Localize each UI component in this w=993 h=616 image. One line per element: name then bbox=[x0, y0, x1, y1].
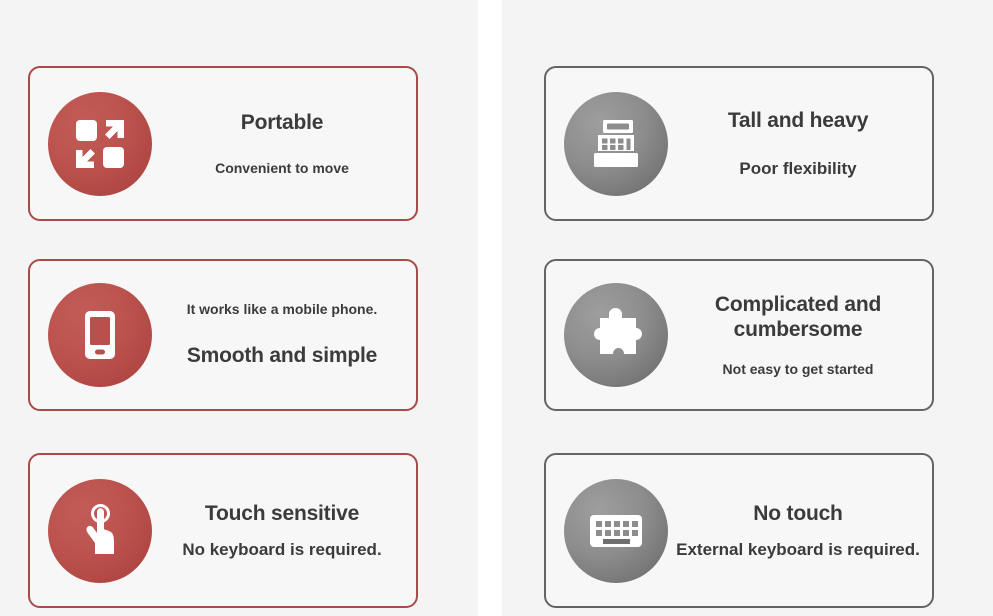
card-heading: Touch sensitive bbox=[205, 501, 359, 527]
card-no-touch[interactable]: No touch External keyboard is required. bbox=[544, 453, 934, 608]
card-touch-sensitive[interactable]: Touch sensitive No keyboard is required. bbox=[28, 453, 418, 608]
cash-register-icon bbox=[564, 92, 668, 196]
mobile-phone-icon bbox=[48, 283, 152, 387]
card-smooth-and-simple[interactable]: It works like a mobile phone. Smooth and… bbox=[28, 259, 418, 411]
card-subtext: Not easy to get started bbox=[723, 361, 874, 379]
card-subtext: Convenient to move bbox=[215, 160, 349, 178]
card-heading: Smooth and simple bbox=[187, 343, 377, 369]
card-subtext: It works like a mobile phone. bbox=[187, 301, 378, 319]
card-subtext: No keyboard is required. bbox=[182, 539, 381, 560]
card-subtext: External keyboard is required. bbox=[676, 539, 920, 560]
card-text-block: No touch External keyboard is required. bbox=[668, 501, 932, 560]
card-subtext: Poor flexibility bbox=[739, 158, 856, 179]
card-heading: Tall and heavy bbox=[728, 108, 868, 134]
right-comparison-column: Tall and heavy Poor flexibility Complica… bbox=[502, 0, 993, 616]
touch-hand-icon bbox=[48, 479, 152, 583]
card-text-block: Complicated and cumbersome Not easy to g… bbox=[668, 292, 932, 379]
card-text-block: It works like a mobile phone. Smooth and… bbox=[152, 301, 416, 368]
card-portable[interactable]: Portable Convenient to move bbox=[28, 66, 418, 221]
card-text-block: Portable Convenient to move bbox=[152, 110, 416, 177]
comparison-board: Portable Convenient to move It works lik… bbox=[0, 0, 993, 616]
card-complicated-and-cumbersome[interactable]: Complicated and cumbersome Not easy to g… bbox=[544, 259, 934, 411]
card-tall-and-heavy[interactable]: Tall and heavy Poor flexibility bbox=[544, 66, 934, 221]
left-comparison-column: Portable Convenient to move It works lik… bbox=[0, 0, 478, 616]
card-heading: No touch bbox=[753, 501, 842, 527]
column-divider bbox=[478, 0, 502, 616]
card-heading: Portable bbox=[241, 110, 323, 136]
card-text-block: Tall and heavy Poor flexibility bbox=[668, 108, 932, 179]
keyboard-icon bbox=[564, 479, 668, 583]
card-heading: Complicated and cumbersome bbox=[674, 292, 922, 343]
card-text-block: Touch sensitive No keyboard is required. bbox=[152, 501, 416, 560]
expand-arrows-icon bbox=[48, 92, 152, 196]
puzzle-piece-icon bbox=[564, 283, 668, 387]
